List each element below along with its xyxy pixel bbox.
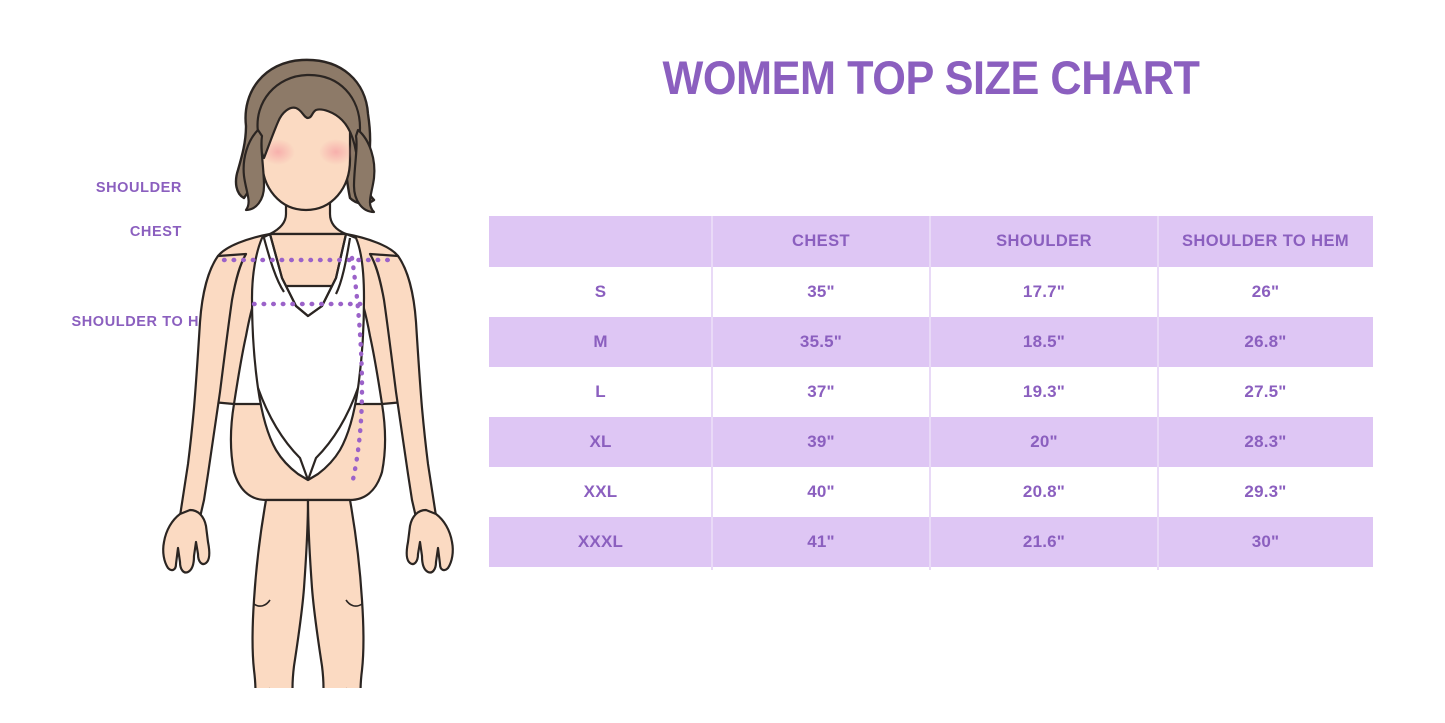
table-row: L 37" 19.3" 27.5": [489, 367, 1373, 417]
hand-left: [163, 510, 209, 573]
table-row: XXL 40" 20.8" 29.3": [489, 467, 1373, 517]
cell-shoulder-to-hem: 27.5": [1158, 367, 1373, 417]
female-body-illustration: [150, 48, 470, 688]
cell-size: XL: [489, 417, 712, 467]
cell-shoulder: 21.6": [930, 517, 1158, 567]
cell-size: L: [489, 367, 712, 417]
size-chart-page: WOMEM TOP SIZE CHART SHOULDER CHEST SHOU…: [0, 0, 1445, 723]
cell-shoulder-to-hem: 26": [1158, 267, 1373, 317]
cell-shoulder-to-hem: 30": [1158, 517, 1373, 567]
cell-chest: 40": [712, 467, 930, 517]
table-header-row: CHEST SHOULDER SHOULDER TO HEM: [489, 216, 1373, 267]
size-chart-table: CHEST SHOULDER SHOULDER TO HEM S 35" 17.…: [489, 216, 1373, 567]
cell-chest: 39": [712, 417, 930, 467]
table-row: S 35" 17.7" 26": [489, 267, 1373, 317]
column-header-shoulder-to-hem: SHOULDER TO HEM: [1158, 216, 1373, 267]
column-header-size: [489, 216, 712, 267]
cell-shoulder: 19.3": [930, 367, 1158, 417]
blush-right: [319, 139, 353, 165]
cell-shoulder-to-hem: 28.3": [1158, 417, 1373, 467]
column-header-chest: CHEST: [712, 216, 930, 267]
cell-size: S: [489, 267, 712, 317]
column-header-shoulder: SHOULDER: [930, 216, 1158, 267]
figure-body-group: [163, 60, 453, 688]
cell-chest: 41": [712, 517, 930, 567]
cell-shoulder: 20": [930, 417, 1158, 467]
page-title: WOMEM TOP SIZE CHART: [524, 50, 1337, 105]
cell-shoulder: 18.5": [930, 317, 1158, 367]
leg-right: [308, 500, 367, 688]
cell-chest: 37": [712, 367, 930, 417]
cell-size: M: [489, 317, 712, 367]
table-row: M 35.5" 18.5" 26.8": [489, 317, 1373, 367]
table-row: XL 39" 20" 28.3": [489, 417, 1373, 467]
cell-shoulder-to-hem: 29.3": [1158, 467, 1373, 517]
cell-chest: 35.5": [712, 317, 930, 367]
cell-shoulder-to-hem: 26.8": [1158, 317, 1373, 367]
hand-right: [407, 510, 453, 573]
cell-shoulder: 20.8": [930, 467, 1158, 517]
cell-size: XXL: [489, 467, 712, 517]
cell-chest: 35": [712, 267, 930, 317]
table-row: XXXL 41" 21.6" 30": [489, 517, 1373, 567]
leg-left: [249, 500, 308, 688]
cell-size: XXXL: [489, 517, 712, 567]
cell-shoulder: 17.7": [930, 267, 1158, 317]
